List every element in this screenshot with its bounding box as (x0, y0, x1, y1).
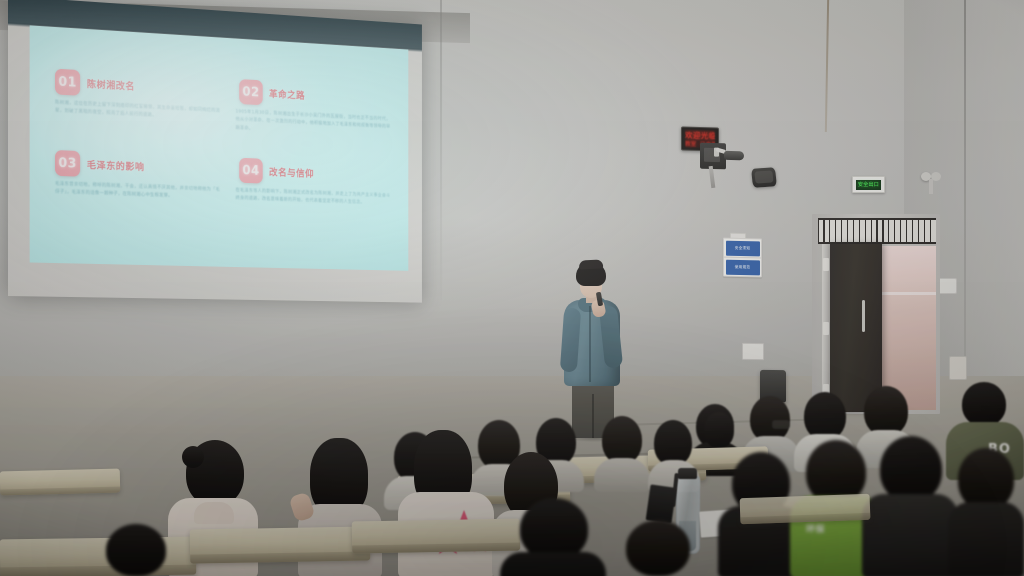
slide-item-01: 01 陈树湘改名 陈树湘，这位在历史上留下深刻烙印的红军将领，其生命虽短暂，却如… (55, 69, 226, 154)
student-hair (880, 436, 942, 502)
exit-sign-label: 安全出口 (856, 180, 881, 190)
student-hair (864, 386, 908, 436)
student-torso (500, 552, 606, 576)
student-star-jacket (398, 430, 494, 576)
wall-seam-line (440, 0, 442, 300)
security-camera-icon (716, 148, 746, 165)
speaker-icon (751, 167, 777, 188)
student-hair (704, 412, 734, 448)
desk-front-center (190, 526, 371, 563)
exit-sign-icon: 安全出口 (852, 176, 885, 193)
slide-item-04-head: 04 改名与信仰 (236, 158, 397, 189)
slide-body-02: 1905年1月30日，陈树湘出生于长沙小吴门外的瓦屋街，当时也正不当的时代，他从… (236, 109, 391, 141)
classroom-photo: 01 陈树湘改名 陈树湘，这位在历史上留下深刻烙印的红军将领，其生命虽短暂，却如… (0, 0, 1024, 576)
hoodie-hood (194, 502, 234, 524)
student-fg-6 (612, 520, 708, 576)
slide-body-03: 毛泽东曾亲切地，称呼的陈树湘，干会，还认真情不厌其他，并亲切地称他为「毛伢子」，… (55, 181, 220, 203)
slide-item-03: 03 毛泽东的影响 毛泽东曾亲切地，称呼的陈树湘，干会，还认真情不厌其他，并亲切… (55, 150, 226, 232)
slide-item-02-head: 02 革命之路 (236, 79, 397, 112)
slide-number-badge-02: 02 (239, 79, 263, 105)
door-hinge-mid (823, 322, 829, 335)
desk-front-right (352, 519, 521, 554)
wall-sign-1: 安全须知 (723, 238, 762, 259)
slide-item-01-head: 01 陈树湘改名 (55, 69, 226, 104)
wall-sign-2: 使用规范 (723, 257, 762, 278)
door-hinge-top (823, 258, 829, 271)
lamp-pole (929, 179, 933, 194)
doorway (812, 214, 940, 414)
student-hair (804, 392, 846, 440)
slide-title-03: 毛泽东的影响 (87, 157, 145, 173)
slide-item-04: 04 改名与信仰 在毛泽东等人的影响下，陈树湘正式改名为陈树湘，并走上了为共产主… (236, 158, 397, 237)
wall-sign-1-text: 安全须知 (726, 240, 760, 256)
student-fg-7 (96, 524, 182, 576)
student-fg-5 (500, 498, 606, 576)
camera-body (724, 151, 744, 161)
slide-title-02: 革命之路 (269, 86, 305, 101)
shirt-logo-text: 环保 (806, 522, 825, 535)
wall-corner-line (964, 0, 966, 410)
presenter-jacket-placket (589, 306, 591, 382)
student-hair (106, 524, 166, 576)
desk-fg-right (740, 494, 871, 525)
student-hair (520, 498, 588, 560)
wall-outlet-lower (949, 356, 967, 380)
student-fg-4 (948, 448, 1024, 576)
door-transom-grille (818, 218, 936, 244)
slide-number-badge-01: 01 (55, 69, 80, 96)
slide-surface: 01 陈树湘改名 陈树湘，这位在历史上留下深刻烙印的红军将领，其生命虽短暂，却如… (30, 25, 409, 270)
slide-body-01: 陈树湘，这位在历史上留下深刻烙印的红军将领，其生命虽短暂，却如同绚烂的流星，划破… (55, 99, 220, 124)
student-hair (626, 520, 690, 576)
wall-sign-group: 安全须知 使用规范 (723, 238, 757, 277)
desk-rear-left (0, 469, 120, 496)
wall-lamp-icon (919, 172, 945, 194)
slide-item-03-head: 03 毛泽东的影响 (55, 150, 226, 182)
student-hair (602, 416, 642, 464)
student-torso (594, 458, 650, 492)
door-handle-icon[interactable] (862, 300, 865, 332)
slide-number-badge-04: 04 (239, 158, 263, 184)
student-torso (862, 494, 958, 576)
glasses-icon (772, 420, 790, 429)
student-hair-bun (182, 446, 204, 468)
presenter (556, 262, 630, 440)
slide-item-02: 02 革命之路 1905年1月30日，陈树湘出生于长沙小吴门外的瓦屋街，当时也正… (236, 79, 397, 161)
projection-screen: 01 陈树湘改名 陈树湘，这位在历史上留下深刻烙印的红军将领，其生命虽短暂，却如… (8, 0, 422, 303)
slide-body-04: 在毛泽东等人的影响下，陈树湘正式改名为陈树湘，并走上了为共产主义事业奋斗终身的道… (236, 187, 391, 208)
student-fg-3 (862, 436, 958, 576)
bottle-cap (678, 468, 697, 479)
microphone-icon (596, 292, 603, 307)
wall-switch-panel (742, 343, 764, 360)
student-hair (958, 448, 1014, 510)
slide-content-grid: 01 陈树湘改名 陈树湘，这位在历史上留下深刻烙印的红军将领，其生命虽短暂，却如… (55, 69, 396, 237)
student-torso (948, 502, 1024, 576)
slide-number-badge-03: 03 (55, 150, 80, 177)
student-hair (962, 382, 1006, 426)
student-mid-4 (594, 416, 650, 488)
wall-sign-2-text: 使用规范 (726, 259, 760, 275)
slide-title-01: 陈树湘改名 (87, 76, 135, 92)
slide-title-04: 改名与信仰 (269, 165, 314, 180)
phone-icon (646, 484, 677, 523)
presenter-hair (576, 262, 606, 286)
